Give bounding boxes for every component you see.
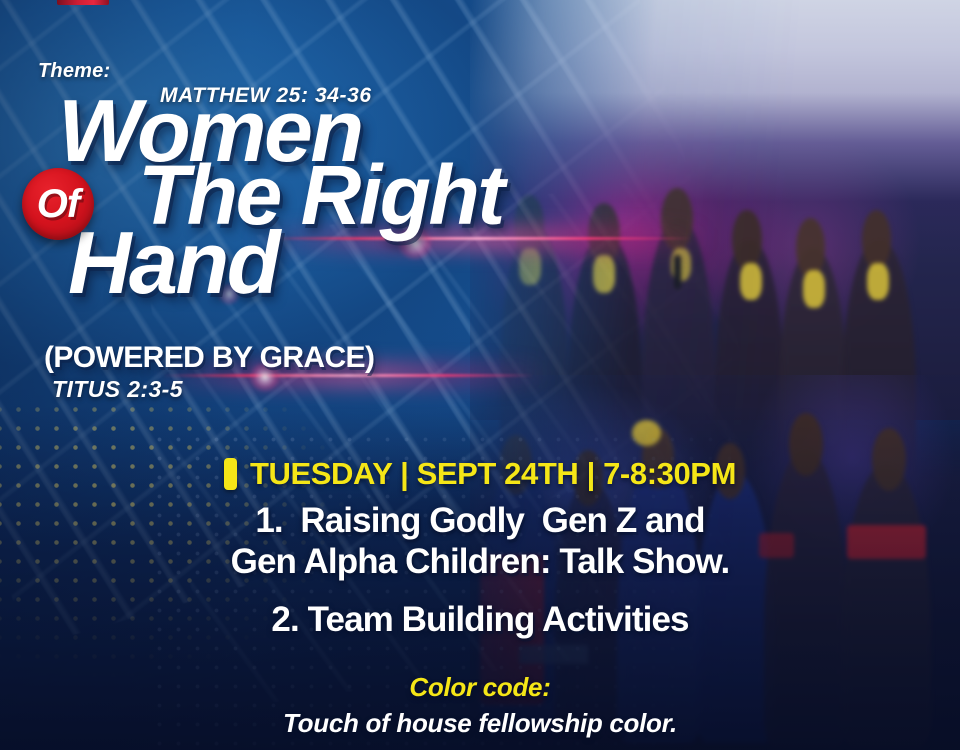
event-flyer: Theme: MATTHEW 25: 34-36 Women The Right…: [0, 0, 960, 750]
color-code-label: Color code:: [0, 672, 960, 703]
date-time-text: TUESDAY | SEPT 24TH | 7-8:30PM: [250, 456, 736, 492]
flyer-content: Theme: MATTHEW 25: 34-36 Women The Right…: [0, 0, 960, 750]
title-subtitle: (POWERED BY GRACE): [44, 341, 374, 375]
of-badge: Of: [22, 168, 94, 240]
event-title: Women The Right Hand: [34, 96, 503, 298]
agenda-item-1-line-2: Gen Alpha Children: Talk Show.: [0, 541, 960, 582]
date-time-bar: TUESDAY | SEPT 24TH | 7-8:30PM: [0, 456, 960, 492]
scripture-reference-bottom: TITUS 2:3-5: [52, 376, 183, 403]
color-code-block: Color code: Touch of house fellowship co…: [0, 672, 960, 739]
yellow-tick-marker: [224, 458, 237, 490]
theme-label: Theme:: [38, 60, 110, 83]
agenda-item-1-line-1: 1. Raising Godly Gen Z and: [0, 500, 960, 541]
agenda-item-2: 2. Team Building Activities: [0, 599, 960, 640]
of-badge-label: Of: [37, 184, 79, 224]
agenda-list: 1. Raising Godly Gen Z and Gen Alpha Chi…: [0, 500, 960, 640]
color-code-value: Touch of house fellowship color.: [0, 708, 960, 739]
